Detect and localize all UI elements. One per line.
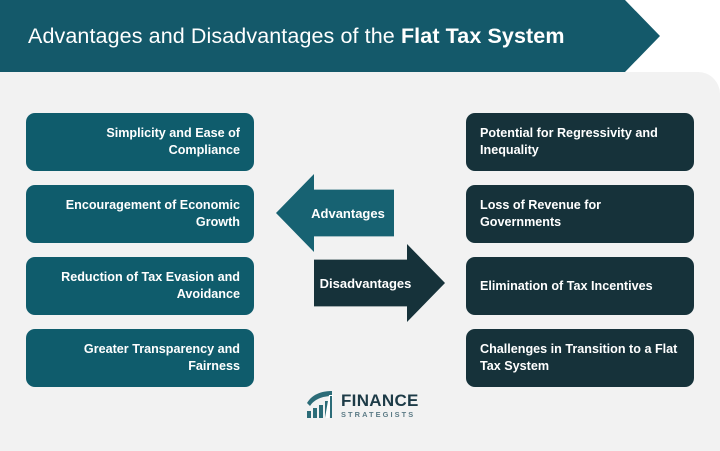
header-banner: Advantages and Disadvantages of the Flat…	[0, 0, 660, 72]
advantage-item-4-label: Greater Transparency and Fairness	[40, 341, 240, 375]
finance-strategists-logo: FINANCE STRATEGISTS	[305, 391, 419, 419]
advantage-item-3: Reduction of Tax Evasion and Avoidance	[26, 257, 254, 315]
right-arrow-icon: Disadvantages	[314, 244, 445, 322]
advantages-label: Advantages	[311, 206, 385, 221]
infographic-canvas: Advantages and Disadvantages of the Flat…	[0, 0, 720, 451]
advantage-item-3-label: Reduction of Tax Evasion and Avoidance	[40, 269, 240, 303]
page-title-prefix: Advantages and Disadvantages of the	[28, 24, 401, 48]
logo-primary-text: FINANCE	[341, 392, 419, 409]
advantage-item-2: Encouragement of Economic Growth	[26, 185, 254, 243]
page-title-emphasis: Flat Tax System	[401, 24, 565, 48]
advantage-item-1: Simplicity and Ease of Compliance	[26, 113, 254, 171]
advantages-column: Simplicity and Ease of Compliance Encour…	[26, 113, 254, 387]
disadvantages-column: Potential for Regressivity and Inequalit…	[466, 113, 694, 387]
logo-secondary-text: STRATEGISTS	[341, 411, 419, 418]
disadvantage-item-3: Elimination of Tax Incentives	[466, 257, 694, 315]
disadvantage-item-2: Loss of Revenue for Governments	[466, 185, 694, 243]
center-arrows: Advantages Disadvantages	[270, 168, 455, 328]
advantage-item-4: Greater Transparency and Fairness	[26, 329, 254, 387]
disadvantage-item-4: Challenges in Transition to a Flat Tax S…	[466, 329, 694, 387]
advantage-item-2-label: Encouragement of Economic Growth	[40, 197, 240, 231]
page-title: Advantages and Disadvantages of the Flat…	[0, 24, 565, 49]
disadvantages-label: Disadvantages	[320, 276, 412, 291]
advantage-item-1-label: Simplicity and Ease of Compliance	[40, 125, 240, 159]
disadvantage-item-2-label: Loss of Revenue for Governments	[480, 197, 680, 231]
disadvantage-item-1: Potential for Regressivity and Inequalit…	[466, 113, 694, 171]
disadvantage-item-1-label: Potential for Regressivity and Inequalit…	[480, 125, 680, 159]
logo-text: FINANCE STRATEGISTS	[341, 392, 419, 418]
disadvantage-item-4-label: Challenges in Transition to a Flat Tax S…	[480, 341, 680, 375]
chart-swoosh-icon	[305, 391, 335, 419]
disadvantage-item-3-label: Elimination of Tax Incentives	[480, 278, 653, 295]
left-arrow-icon: Advantages	[276, 174, 394, 252]
